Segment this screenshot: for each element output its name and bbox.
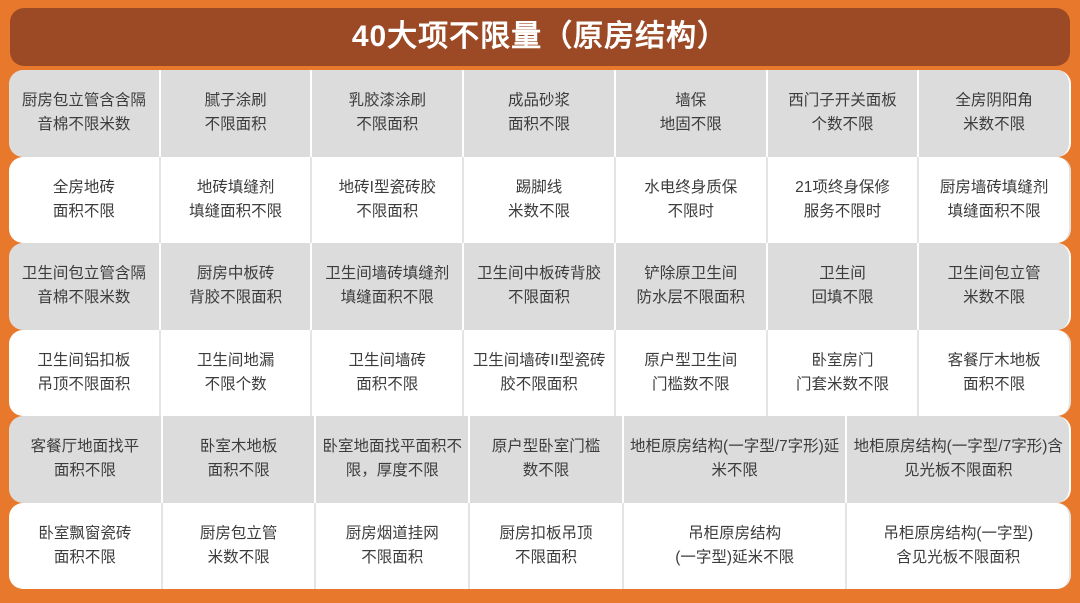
table-cell: 原户型卧室门槛数不限 <box>470 416 624 503</box>
table-cell-label: 墙保地固不限 <box>622 89 760 137</box>
table-cell: 卫生间中板砖背胶不限面积 <box>464 243 616 330</box>
table-cell-label: 卫生间铝扣板吊顶不限面积 <box>15 349 153 397</box>
table-cell: 腻子涂刷不限面积 <box>161 70 313 157</box>
table-cell: 21项终身保修服务不限时 <box>768 157 920 244</box>
table-cell: 成品砂浆面积不限 <box>464 70 616 157</box>
table-cell: 厨房墙砖填缝剂填缝面积不限 <box>919 157 1071 244</box>
table-cell: 卧室木地板面积不限 <box>163 416 317 503</box>
table-cell: 卫生间墙砖II型瓷砖胶不限面积 <box>464 330 616 417</box>
table-row: 卧室飘窗瓷砖面积不限厨房包立管米数不限厨房烟道挂网不限面积厨房扣板吊顶不限面积吊… <box>0 503 1080 590</box>
table-cell-label: 厨房烟道挂网不限面积 <box>322 522 462 570</box>
table-cell-label: 原户型卫生间门槛数不限 <box>622 349 760 397</box>
table-cell-label: 卫生间包立管米数不限 <box>925 262 1063 310</box>
table-cell-label: 卧室木地板面积不限 <box>169 435 309 483</box>
table-cell-label: 卫生间回填不限 <box>774 262 912 310</box>
table-cell-label: 地柜原房结构(一字型/7字形)含见光板不限面积 <box>853 435 1063 483</box>
table-cell-label: 厨房包立管含含隔音棉不限米数 <box>15 89 153 137</box>
table-cell: 厨房扣板吊顶不限面积 <box>470 503 624 590</box>
table-cell-label: 卫生间中板砖背胶不限面积 <box>470 262 608 310</box>
table-cell-label: 地柜原房结构(一字型/7字形)延米不限 <box>630 435 840 483</box>
table-row: 厨房包立管含含隔音棉不限米数腻子涂刷不限面积乳胶漆涂刷不限面积成品砂浆面积不限墙… <box>0 70 1080 157</box>
page-title: 40大项不限量（原房结构） <box>352 22 728 52</box>
table-cell-label: 全房地砖面积不限 <box>15 176 153 224</box>
table-cell: 全房地砖面积不限 <box>9 157 161 244</box>
table-cell: 地柜原房结构(一字型/7字形)延米不限 <box>624 416 848 503</box>
table-cell-label: 乳胶漆涂刷不限面积 <box>318 89 456 137</box>
table-cell: 卫生间包立管米数不限 <box>919 243 1071 330</box>
table-cell-label: 铲除原卫生间防水层不限面积 <box>622 262 760 310</box>
table-cell-label: 吊柜原房结构(一字型)含见光板不限面积 <box>853 522 1063 570</box>
table-cell-label: 卧室地面找平面积不限，厚度不限 <box>322 435 462 483</box>
table-row: 客餐厅地面找平面积不限卧室木地板面积不限卧室地面找平面积不限，厚度不限原户型卧室… <box>0 416 1080 503</box>
benefits-table: 厨房包立管含含隔音棉不限米数腻子涂刷不限面积乳胶漆涂刷不限面积成品砂浆面积不限墙… <box>0 70 1080 603</box>
table-cell-label: 成品砂浆面积不限 <box>470 89 608 137</box>
table-row: 卫生间包立管含隔音棉不限米数厨房中板砖背胶不限面积卫生间墙砖填缝剂填缝面积不限卫… <box>0 243 1080 330</box>
table-cell: 吊柜原房结构(一字型)延米不限 <box>624 503 848 590</box>
table-cell-label: 厨房扣板吊顶不限面积 <box>476 522 616 570</box>
promo-table-page: 40大项不限量（原房结构） 厨房包立管含含隔音棉不限米数腻子涂刷不限面积乳胶漆涂… <box>0 0 1080 603</box>
table-cell: 全房阴阳角米数不限 <box>919 70 1071 157</box>
table-cell-label: 原户型卧室门槛数不限 <box>476 435 616 483</box>
table-cell: 水电终身质保不限时 <box>616 157 768 244</box>
table-cell-label: 卫生间墙砖面积不限 <box>318 349 456 397</box>
table-cell-label: 地砖I型瓷砖胶不限面积 <box>318 176 456 224</box>
table-cell-label: 客餐厅地面找平面积不限 <box>15 435 155 483</box>
table-cell-label: 厨房墙砖填缝剂填缝面积不限 <box>925 176 1063 224</box>
table-cell: 卧室飘窗瓷砖面积不限 <box>9 503 163 590</box>
table-cell-label: 腻子涂刷不限面积 <box>167 89 305 137</box>
table-cell-label: 卧室飘窗瓷砖面积不限 <box>15 522 155 570</box>
table-cell-label: 厨房中板砖背胶不限面积 <box>167 262 305 310</box>
table-cell-label: 卧室房门门套米数不限 <box>774 349 912 397</box>
table-cell-label: 吊柜原房结构(一字型)延米不限 <box>630 522 840 570</box>
table-cell-label: 厨房包立管米数不限 <box>169 522 309 570</box>
table-cell: 卫生间墙砖填缝剂填缝面积不限 <box>312 243 464 330</box>
table-cell-label: 客餐厅木地板面积不限 <box>925 349 1063 397</box>
table-cell: 卧室地面找平面积不限，厚度不限 <box>316 416 470 503</box>
table-cell: 卧室房门门套米数不限 <box>768 330 920 417</box>
table-cell: 厨房包立管含含隔音棉不限米数 <box>9 70 161 157</box>
table-cell-label: 21项终身保修服务不限时 <box>774 176 912 224</box>
table-cell: 卫生间回填不限 <box>768 243 920 330</box>
table-cell-label: 全房阴阳角米数不限 <box>925 89 1063 137</box>
table-cell: 客餐厅地面找平面积不限 <box>9 416 163 503</box>
table-cell-label: 水电终身质保不限时 <box>622 176 760 224</box>
table-cell: 卫生间包立管含隔音棉不限米数 <box>9 243 161 330</box>
table-cell: 吊柜原房结构(一字型)含见光板不限面积 <box>847 503 1071 590</box>
table-cell: 地柜原房结构(一字型/7字形)含见光板不限面积 <box>847 416 1071 503</box>
table-cell-label: 卫生间墙砖填缝剂填缝面积不限 <box>318 262 456 310</box>
table-cell: 地砖填缝剂填缝面积不限 <box>161 157 313 244</box>
table-cell-label: 西门子开关面板个数不限 <box>774 89 912 137</box>
table-cell: 厨房包立管米数不限 <box>163 503 317 590</box>
table-cell: 卫生间铝扣板吊顶不限面积 <box>9 330 161 417</box>
table-cell: 乳胶漆涂刷不限面积 <box>312 70 464 157</box>
table-cell-label: 地砖填缝剂填缝面积不限 <box>167 176 305 224</box>
table-cell: 客餐厅木地板面积不限 <box>919 330 1071 417</box>
table-cell: 地砖I型瓷砖胶不限面积 <box>312 157 464 244</box>
table-cell: 西门子开关面板个数不限 <box>768 70 920 157</box>
table-cell: 卫生间地漏不限个数 <box>161 330 313 417</box>
page-title-bar: 40大项不限量（原房结构） <box>10 8 1070 66</box>
table-cell-label: 卫生间墙砖II型瓷砖胶不限面积 <box>470 349 608 397</box>
table-cell: 卫生间墙砖面积不限 <box>312 330 464 417</box>
table-cell: 墙保地固不限 <box>616 70 768 157</box>
table-cell-label: 踢脚线米数不限 <box>470 176 608 224</box>
table-cell: 踢脚线米数不限 <box>464 157 616 244</box>
table-cell: 铲除原卫生间防水层不限面积 <box>616 243 768 330</box>
table-cell: 原户型卫生间门槛数不限 <box>616 330 768 417</box>
table-cell-label: 卫生间地漏不限个数 <box>167 349 305 397</box>
table-cell-label: 卫生间包立管含隔音棉不限米数 <box>15 262 153 310</box>
table-cell: 厨房烟道挂网不限面积 <box>316 503 470 590</box>
table-row: 全房地砖面积不限地砖填缝剂填缝面积不限地砖I型瓷砖胶不限面积踢脚线米数不限水电终… <box>0 157 1080 244</box>
table-row: 卫生间铝扣板吊顶不限面积卫生间地漏不限个数卫生间墙砖面积不限卫生间墙砖II型瓷砖… <box>0 330 1080 417</box>
table-cell: 厨房中板砖背胶不限面积 <box>161 243 313 330</box>
